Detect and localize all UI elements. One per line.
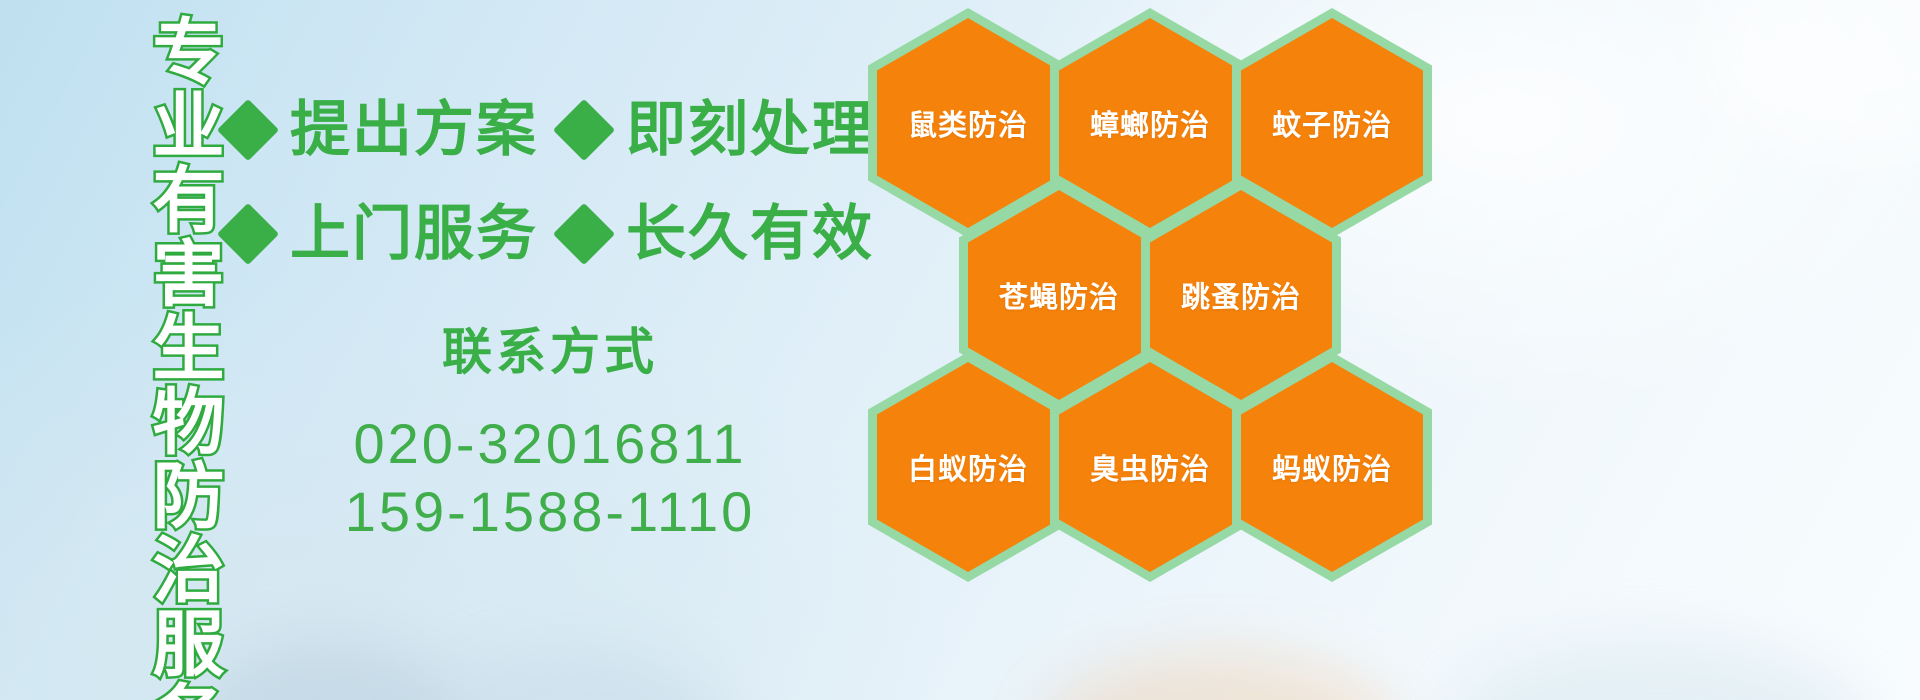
hex-label: 苍蝇防治 xyxy=(999,274,1119,316)
hex-label: 臭虫防治 xyxy=(1090,446,1210,488)
feature-item: 提出方案 xyxy=(226,100,538,160)
diamond-bullet-icon xyxy=(217,99,279,161)
hex-label: 蟑螂防治 xyxy=(1090,102,1210,144)
hex-label: 蚊子防治 xyxy=(1272,102,1392,144)
feature-item: 长久有效 xyxy=(562,204,874,264)
background-haze-blob xyxy=(1450,640,1870,700)
feature-item: 上门服务 xyxy=(226,204,538,264)
phone-mobile[interactable]: 159-1588-1110 xyxy=(300,478,800,546)
feature-label: 长久有效 xyxy=(626,204,874,264)
hex-inner: 臭虫防治 xyxy=(1059,362,1241,572)
pest-control-banner: 专业有害生物防治服务 提出方案 即刻处理 上门服务 长久有效 xyxy=(0,0,1920,700)
feature-row: 上门服务 长久有效 xyxy=(226,182,866,286)
diamond-bullet-icon xyxy=(553,99,615,161)
phone-landline[interactable]: 020-32016811 xyxy=(300,410,800,478)
feature-label: 上门服务 xyxy=(290,204,538,264)
service-honeycomb: 鼠类防治 蟑螂防治 蚊子防治 苍蝇防治 跳蚤防治 白蚁防治 xyxy=(862,0,1482,700)
background-haze-blob xyxy=(430,650,730,700)
feature-list: 提出方案 即刻处理 上门服务 长久有效 xyxy=(226,78,866,286)
diamond-bullet-icon xyxy=(553,203,615,265)
diamond-bullet-icon xyxy=(217,203,279,265)
background-haze-blob xyxy=(200,640,460,700)
hex-label: 鼠类防治 xyxy=(908,102,1028,144)
hex-label: 蚂蚁防治 xyxy=(1272,446,1392,488)
hex-label: 白蚁防治 xyxy=(908,446,1028,488)
feature-row: 提出方案 即刻处理 xyxy=(226,78,866,182)
background-haze-blob xyxy=(1700,0,1920,160)
contact-block: 联系方式 020-32016811 159-1588-1110 xyxy=(300,312,800,547)
feature-label: 提出方案 xyxy=(290,100,538,160)
hex-inner: 蚂蚁防治 xyxy=(1241,362,1423,572)
feature-label: 即刻处理 xyxy=(626,100,874,160)
contact-title: 联系方式 xyxy=(300,312,800,384)
hex-label: 跳蚤防治 xyxy=(1181,274,1301,316)
feature-item: 即刻处理 xyxy=(562,100,874,160)
vertical-headline: 专业有害生物防治服务 xyxy=(108,14,218,700)
hex-inner: 白蚁防治 xyxy=(877,362,1059,572)
